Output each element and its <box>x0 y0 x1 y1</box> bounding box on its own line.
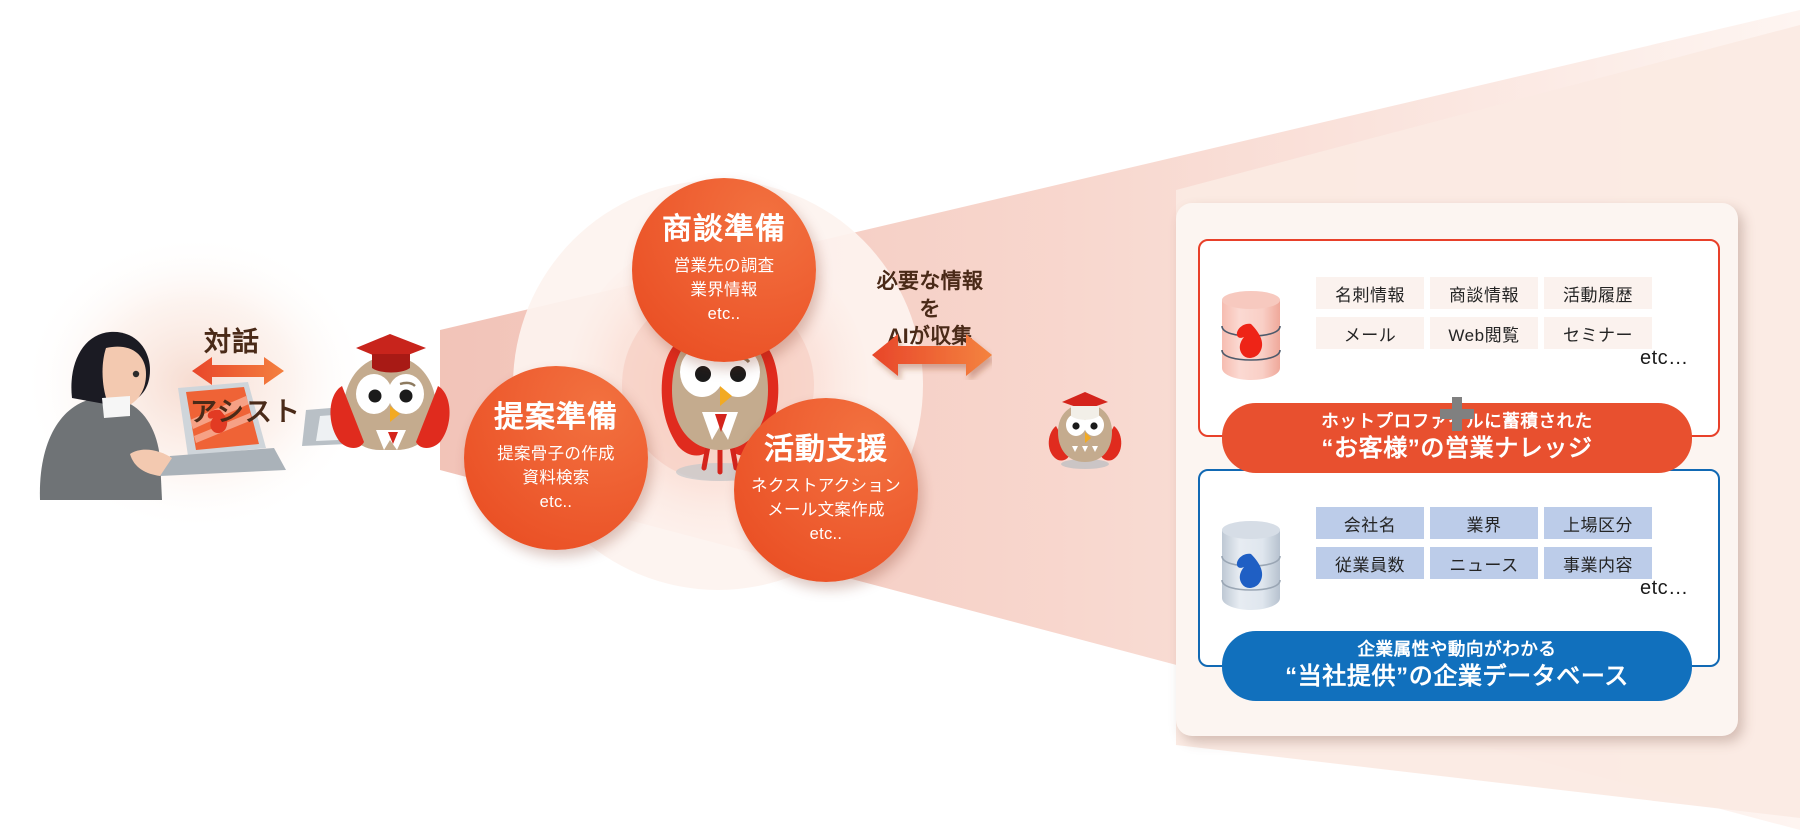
etc-label-red: etc… <box>1640 347 1689 370</box>
etc-label-blue: etc… <box>1640 577 1689 600</box>
circle-subtext: ネクストアクション メール文案作成 etc.. <box>751 475 901 547</box>
pill-line2: “当社提供”の企業データベース <box>1222 661 1692 692</box>
tag-item: ニュース <box>1430 547 1538 579</box>
tag-item: 業界 <box>1430 507 1538 539</box>
circle-title: 提案準備 <box>494 401 618 434</box>
company-database-tags: 会社名 業界 上場区分 従業員数 ニュース 事業内容 <box>1316 507 1652 579</box>
assist-label: アシスト <box>190 390 301 429</box>
pill-line1: 企業属性や動向がわかる <box>1222 638 1692 661</box>
tag-item: セミナー <box>1544 317 1652 349</box>
pill-line2: “お客様”の営業ナレッジ <box>1222 433 1692 464</box>
customer-knowledge-tags: 名刺情報 商談情報 活動履歴 メール Web閲覧 セミナー <box>1316 277 1652 349</box>
database-cylinder-blue-flame-icon <box>1220 518 1282 610</box>
circle-subtext: 提案骨子の作成 資料検索 etc.. <box>497 443 615 515</box>
tag-item: 上場区分 <box>1544 507 1652 539</box>
double-arrow-horizontal-icon <box>192 352 284 390</box>
double-arrow-horizontal-icon <box>872 330 992 380</box>
database-cylinder-red-flame-icon <box>1220 288 1282 380</box>
tag-item: 活動履歴 <box>1544 277 1652 309</box>
circle-katsudo-shien[interactable]: 活動支援 ネクストアクション メール文案作成 etc.. <box>734 398 918 582</box>
tag-item: 従業員数 <box>1316 547 1424 579</box>
owl-small-icon <box>1044 392 1126 470</box>
circle-shodan-junbi[interactable]: 商談準備 営業先の調査 業界情報 etc.. <box>632 178 816 362</box>
plus-icon <box>1440 397 1474 431</box>
diagram-canvas: 対話 アシスト 商談準備 営業先の調査 業界情報 etc.. 提案準備 <box>0 0 1800 835</box>
company-database-pill: 企業属性や動向がわかる “当社提供”の企業データベース <box>1222 631 1692 701</box>
circle-title: 活動支援 <box>764 433 888 466</box>
circle-title: 商談準備 <box>662 213 786 246</box>
tag-item: Web閲覧 <box>1430 317 1538 349</box>
tag-item: 名刺情報 <box>1316 277 1424 309</box>
owl-graduate-icon <box>302 334 450 450</box>
circle-teian-junbi[interactable]: 提案準備 提案骨子の作成 資料検索 etc.. <box>464 366 648 550</box>
tag-item: 事業内容 <box>1544 547 1652 579</box>
tag-item: 会社名 <box>1316 507 1424 539</box>
tag-item: メール <box>1316 317 1424 349</box>
circle-subtext: 営業先の調査 業界情報 etc.. <box>674 255 775 327</box>
tag-item: 商談情報 <box>1430 277 1538 309</box>
